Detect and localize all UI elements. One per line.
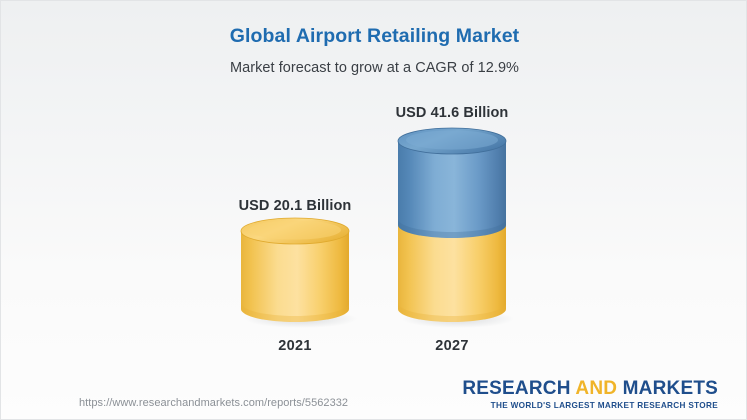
- bar-cylinder-2027: [390, 125, 514, 331]
- category-label-2027: 2027: [342, 338, 562, 354]
- logo-word-research: RESEARCH: [462, 378, 570, 399]
- logo-word-markets: MARKETS: [623, 378, 718, 399]
- bar-cylinder-2021: [233, 215, 357, 331]
- logo-word-and: AND: [571, 378, 623, 399]
- chart-plot-area: USD 20.1 Billion: [1, 1, 747, 420]
- research-and-markets-logo[interactable]: RESEARCH AND MARKETS THE WORLD'S LARGEST…: [462, 379, 718, 410]
- logo-tagline: THE WORLD'S LARGEST MARKET RESEARCH STOR…: [462, 402, 718, 410]
- report-url[interactable]: https://www.researchandmarkets.com/repor…: [79, 397, 348, 409]
- value-label-2027: USD 41.6 Billion: [342, 105, 562, 121]
- value-label-2021: USD 20.1 Billion: [185, 198, 405, 214]
- logo-wordmark: RESEARCH AND MARKETS: [462, 379, 718, 398]
- infographic-canvas: Global Airport Retailing Market Market f…: [0, 0, 747, 420]
